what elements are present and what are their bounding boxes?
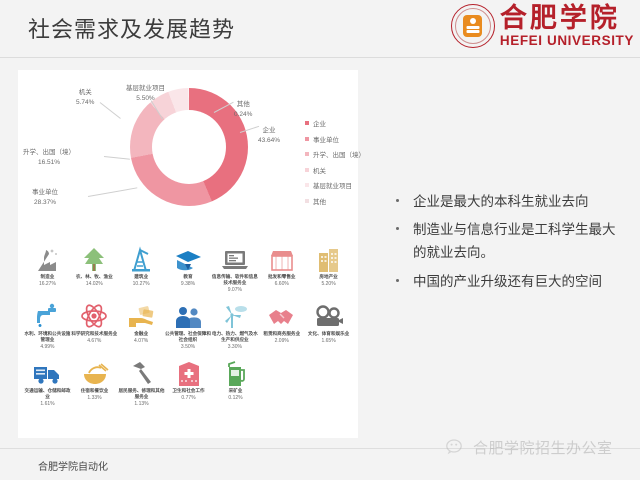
bullet-dot-icon — [396, 279, 399, 282]
legend-item: 机关 — [305, 165, 365, 175]
industry-percent: 14.02% — [86, 281, 103, 288]
industry-label: 住宿和餐饮业 — [81, 388, 109, 394]
logo-name-en: HEFEI UNIVERSITY — [500, 34, 634, 48]
legend-label: 企业 — [313, 118, 326, 128]
industry-percent: 9.07% — [228, 287, 242, 294]
film-projector-icon — [314, 297, 344, 329]
industry-percent: 5.20% — [321, 281, 335, 288]
legend-swatch — [305, 199, 309, 203]
atom-icon — [80, 297, 108, 329]
industry-label: 教育 — [183, 274, 192, 280]
industry-percent: 4.99% — [40, 344, 54, 351]
legend-item: 升学、出国（境） — [305, 149, 365, 159]
industry-cell[interactable]: 交通运输、仓储和邮政业1.61% — [24, 354, 71, 408]
slice-label-shengxue: 升学、出国（境） 16.51% — [23, 148, 75, 168]
oil-derrick-icon — [128, 240, 154, 272]
industry-label: 金融业 — [134, 331, 148, 337]
bullet-list: 企业是最大的本科生就业去向 制造业与信息行业是工科学生最大的就业去向。 中国的产… — [396, 190, 628, 298]
industry-row: 制造业16.27%农、林、牧、渔业14.02%建筑业10.27%教育9.38%信… — [24, 240, 352, 294]
industry-percent: 6.60% — [275, 281, 289, 288]
industry-label: 制造业 — [41, 274, 55, 280]
slice-label-qita: 其他 0.24% — [234, 100, 252, 120]
industry-label: 科学研究和技术服务业 — [71, 331, 117, 337]
university-logo: 合肥学院 HEFEI UNIVERSITY — [451, 3, 634, 49]
industry-label: 批发和零售业 — [268, 274, 296, 280]
bullet-text: 企业是最大的本科生就业去向 — [413, 190, 589, 213]
legend-label: 机关 — [313, 165, 326, 175]
page-title: 社会需求及发展趋势 — [28, 12, 235, 44]
slice-label-qiye: 企业 43.64% — [258, 126, 280, 146]
legend-label: 升学、出国（境） — [313, 149, 365, 159]
industry-label: 建筑业 — [134, 274, 148, 280]
industry-label: 采矿业 — [229, 388, 243, 394]
content-card: 机关 5.74% 基层就业项目 5.50% 其他 0.24% 企业 43.64%… — [18, 70, 358, 438]
industry-percent: 16.27% — [39, 281, 56, 288]
industry-cell[interactable]: 卫生和社会工作0.77% — [165, 354, 212, 408]
legend-swatch — [305, 183, 309, 187]
footer-label: 合肥学院自动化 — [38, 458, 108, 473]
buildings-icon — [316, 240, 342, 272]
industry-row: 水利、环境和公共设施管理业4.99%科学研究和技术服务业4.67%金融业4.07… — [24, 297, 352, 351]
leader-line — [100, 102, 121, 119]
industry-cell[interactable]: 信息传输、软件和信息技术服务业9.07% — [211, 240, 258, 294]
legend-label: 其他 — [313, 196, 326, 206]
industry-percent: 2.09% — [275, 338, 289, 345]
slice-label-jiceng: 基层就业项目 5.50% — [126, 84, 165, 104]
industry-cell[interactable]: 金融业4.07% — [118, 297, 165, 351]
legend-item: 企业 — [305, 118, 365, 128]
industry-cell[interactable]: 制造业16.27% — [24, 240, 71, 294]
legend-item: 其他 — [305, 196, 365, 206]
slide: 社会需求及发展趋势 合肥学院 HEFEI UNIVERSITY 机关 5.74% — [0, 0, 640, 480]
truck-icon — [33, 354, 63, 386]
leader-line — [88, 187, 137, 197]
industry-percent: 1.65% — [321, 338, 335, 345]
industry-label: 居民服务、修理和其他服务业 — [119, 388, 165, 400]
industry-percent: 3.30% — [228, 344, 242, 351]
industry-cell[interactable]: 电力、热力、燃气及水生产和供应业3.30% — [211, 297, 258, 351]
industry-cell[interactable]: 建筑业10.27% — [118, 240, 165, 294]
hospital-icon — [175, 354, 203, 386]
shop-icon — [268, 240, 296, 272]
legend-label: 基层就业项目 — [313, 180, 352, 190]
money-hand-icon — [127, 297, 155, 329]
slide-header: 社会需求及发展趋势 合肥学院 HEFEI UNIVERSITY — [0, 0, 640, 57]
bullet-dot-icon — [396, 199, 399, 202]
industry-cell[interactable]: 文化、体育和娱乐业1.65% — [305, 297, 352, 351]
bullet-text: 中国的产业升级还有巨大的空间 — [413, 270, 602, 293]
industry-percent: 0.77% — [181, 395, 195, 402]
legend-swatch — [305, 137, 309, 141]
industry-cell[interactable]: 住宿和餐饮业1.33% — [71, 354, 118, 408]
slice-label-shiye: 事业单位 28.37% — [32, 188, 58, 208]
university-seal-icon — [451, 4, 495, 48]
noodle-bowl-icon — [81, 354, 109, 386]
list-item: 中国的产业升级还有巨大的空间 — [396, 270, 628, 293]
handshake-icon — [267, 297, 297, 329]
industry-percent: 1.13% — [134, 401, 148, 408]
industry-cell[interactable]: 科学研究和技术服务业4.67% — [71, 297, 118, 351]
list-item: 制造业与信息行业是工科学生最大的就业去向。 — [396, 218, 628, 264]
industry-label: 电力、热力、燃气及水生产和供应业 — [212, 331, 258, 343]
header-divider — [0, 57, 640, 58]
bullet-dot-icon — [396, 227, 399, 230]
industry-label: 租赁和商务服务业 — [263, 331, 300, 337]
industry-icon-grid: 制造业16.27%农、林、牧、渔业14.02%建筑业10.27%教育9.38%信… — [18, 240, 358, 411]
logo-name-cn: 合肥学院 — [500, 5, 620, 32]
industry-cell[interactable]: 居民服务、修理和其他服务业1.13% — [118, 354, 165, 408]
industry-percent: 10.27% — [133, 281, 150, 288]
industry-cell[interactable]: 采矿业0.12% — [212, 354, 259, 408]
industry-row: 交通运输、仓储和邮政业1.61%住宿和餐饮业1.33%居民服务、修理和其他服务业… — [24, 354, 352, 408]
industry-cell[interactable]: 批发和零售业6.60% — [258, 240, 305, 294]
industry-percent: 9.38% — [181, 281, 195, 288]
legend-item: 事业单位 — [305, 134, 365, 144]
fuel-pump-icon — [223, 354, 249, 386]
tree-icon — [80, 240, 108, 272]
employment-donut-chart: 机关 5.74% 基层就业项目 5.50% 其他 0.24% 企业 43.64%… — [18, 70, 358, 235]
faucet-icon — [34, 297, 60, 329]
slice-label-jiguan: 机关 5.74% — [76, 88, 94, 108]
list-item: 企业是最大的本科生就业去向 — [396, 190, 628, 213]
donut-ring — [130, 88, 248, 206]
legend-swatch — [305, 168, 309, 172]
legend-label: 事业单位 — [313, 134, 339, 144]
industry-label: 水利、环境和公共设施管理业 — [24, 331, 70, 343]
industry-label: 农、林、牧、渔业 — [76, 274, 113, 280]
industry-percent: 1.61% — [40, 401, 54, 408]
industry-label: 文化、体育和娱乐业 — [308, 331, 349, 337]
hammer-icon — [129, 354, 155, 386]
industry-percent: 4.07% — [134, 338, 148, 345]
industry-cell[interactable]: 租赁和商务服务业2.09% — [258, 297, 305, 351]
industry-percent: 1.33% — [87, 395, 101, 402]
wechat-watermark: 合肥学院招生办公室 — [446, 437, 613, 458]
industry-cell[interactable]: 房地产业5.20% — [305, 240, 352, 294]
industry-label: 房地产业 — [319, 274, 337, 280]
industry-cell[interactable]: 教育9.38% — [165, 240, 212, 294]
industry-label: 信息传输、软件和信息技术服务业 — [212, 274, 258, 286]
graduation-book-icon — [173, 240, 203, 272]
bullet-text: 制造业与信息行业是工科学生最大的就业去向。 — [413, 218, 628, 264]
industry-percent: 4.67% — [87, 338, 101, 345]
laptop-icon — [220, 240, 250, 272]
factory-icon — [33, 240, 61, 272]
legend-item: 基层就业项目 — [305, 180, 365, 190]
legend-swatch — [305, 152, 309, 156]
wechat-icon — [446, 439, 468, 457]
industry-cell[interactable]: 水利、环境和公共设施管理业4.99% — [24, 297, 71, 351]
industry-percent: 3.50% — [181, 344, 195, 351]
legend-swatch — [305, 121, 309, 125]
industry-label: 卫生和社会工作 — [172, 388, 204, 394]
industry-label: 交通运输、仓储和邮政业 — [25, 388, 71, 400]
people-icon — [174, 297, 202, 329]
industry-percent: 0.12% — [228, 395, 242, 402]
leader-line — [104, 156, 130, 160]
chart-legend: 企业 事业单位 升学、出国（境） 机关 基层就业项目 — [305, 118, 365, 206]
industry-label: 公共管理、社会保障和社会组织 — [165, 331, 211, 343]
wind-turbine-icon — [221, 297, 249, 329]
industry-cell[interactable]: 农、林、牧、渔业14.02% — [71, 240, 118, 294]
industry-cell[interactable]: 公共管理、社会保障和社会组织3.50% — [165, 297, 212, 351]
watermark-text: 合肥学院招生办公室 — [473, 437, 613, 458]
